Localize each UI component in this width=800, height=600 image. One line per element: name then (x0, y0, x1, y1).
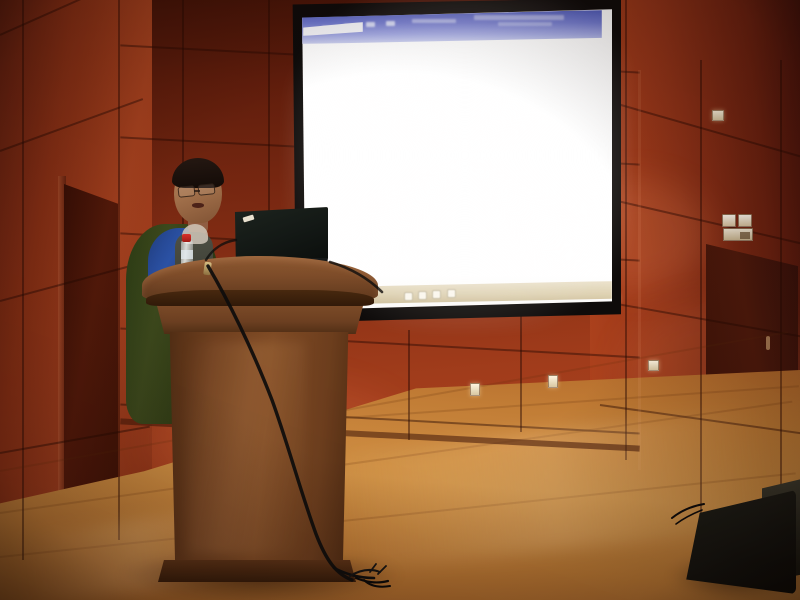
wall-outlet-plate (648, 360, 659, 371)
podium-band (156, 302, 364, 334)
wall-outlet-plate (548, 375, 558, 388)
water-bottle-cap[interactable] (182, 234, 191, 242)
podium-base (158, 560, 356, 582)
podium-lip (146, 290, 374, 306)
wall-outlet-plate (470, 383, 480, 396)
podium-body (166, 332, 352, 572)
stage-monitor-cable (660, 496, 708, 536)
water-bottle-label (181, 250, 193, 259)
address-text (412, 19, 456, 23)
emergency-lamp-right (738, 214, 752, 227)
presenter-mouth (192, 203, 204, 208)
wall-outlet-plate (712, 110, 724, 121)
door-handle-icon[interactable] (766, 336, 770, 350)
emergency-light-housing (723, 228, 753, 241)
folder-icon[interactable] (418, 291, 427, 300)
door-left[interactable] (64, 184, 118, 514)
glasses-bridge (194, 190, 200, 192)
window-title-text (474, 15, 564, 20)
window-title-text-2 (498, 22, 552, 26)
document-icon[interactable] (447, 289, 456, 298)
lecture-hall-photo (0, 0, 800, 600)
window-icon[interactable] (404, 292, 413, 301)
glasses-icon (177, 185, 195, 198)
emergency-lamp-left (722, 214, 736, 227)
app-icon[interactable] (432, 290, 441, 299)
emergency-light-icon (722, 214, 752, 227)
glasses-icon (197, 183, 215, 196)
floor-cable-cluster (330, 548, 400, 588)
menu-item-4[interactable] (386, 21, 395, 26)
menu-item-3[interactable] (366, 22, 375, 27)
